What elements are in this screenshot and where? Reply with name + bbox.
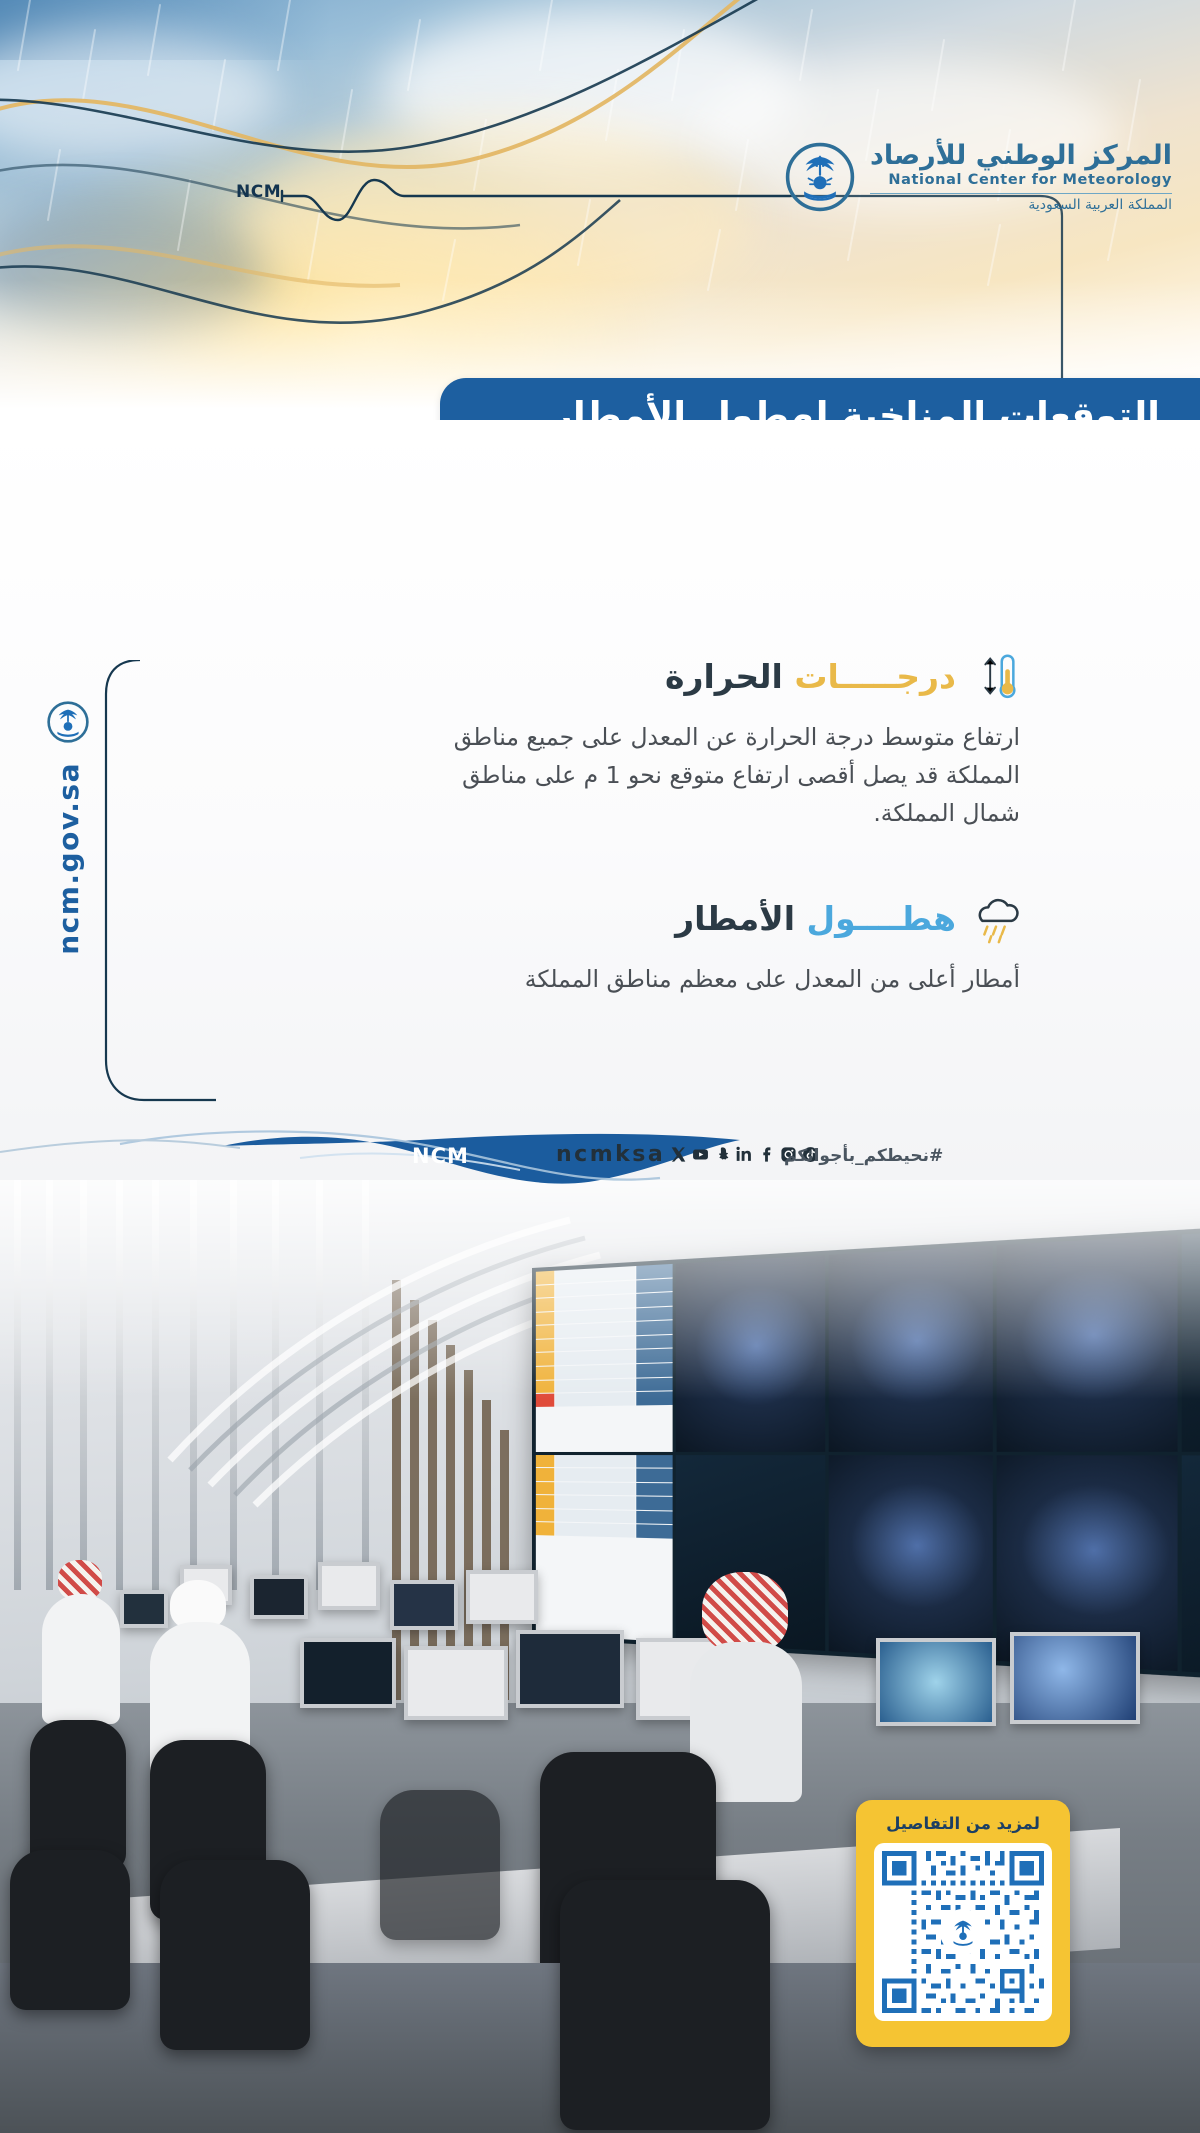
section-body-text: ارتفاع متوسط درجة الحرارة عن المعدل على … — [420, 718, 1020, 832]
left-bracket-line — [100, 660, 220, 1120]
section-title-accent: درجـــــات — [794, 657, 956, 696]
qr-label: لمزيد من التفاصيل — [856, 1812, 1070, 1843]
section-title: هطــــول الأمطار — [675, 899, 956, 938]
monitor — [1010, 1632, 1140, 1724]
section-title-rest: الحرارة — [665, 657, 783, 696]
ncm-wave-mark-label: NCM — [236, 182, 281, 202]
section-temperature: درجـــــات الحرارة ارتفاع متوسط درجة الح… — [420, 648, 1020, 832]
campaign-hashtag: #نحيطكم_بأجوائكم — [784, 1146, 943, 1166]
qr-code-box[interactable] — [874, 1843, 1052, 2021]
monitor — [250, 1575, 308, 1619]
thermometer-up-down-icon — [970, 648, 1020, 704]
qr-code-panel[interactable]: لمزيد من التفاصيل — [856, 1800, 1070, 2047]
ncm-logo: المركز الوطني للأرصاد National Center fo… — [784, 140, 1172, 214]
section-body-text: أمطار أعلى من المعدل على معظم مناطق المم… — [420, 960, 1020, 998]
facebook-icon[interactable] — [758, 1146, 775, 1163]
video-wall-data-table — [536, 1455, 673, 1643]
poster-canvas: NCM المركز الوطني للأرصاد National Cente… — [0, 0, 1200, 2133]
office-chair — [160, 1860, 310, 2050]
footer-ncm-mark: NCM — [412, 1144, 469, 1168]
office-chair — [30, 1720, 126, 1870]
video-wall-tile — [1182, 1455, 1200, 1683]
saudi-palm-swords-emblem-icon — [944, 1913, 982, 1951]
section-title-accent: هطــــول — [807, 899, 956, 938]
website-sidebar[interactable]: ncm.gov.sa — [46, 700, 90, 955]
monitor — [318, 1562, 380, 1610]
snapchat-icon[interactable] — [714, 1146, 731, 1163]
monitor — [390, 1580, 458, 1630]
cloud-rain-icon — [970, 890, 1020, 946]
saudi-palm-swords-emblem-icon — [784, 141, 856, 213]
section-header: درجـــــات الحرارة — [420, 648, 1020, 704]
video-wall-tile — [829, 1455, 993, 1661]
website-url[interactable]: ncm.gov.sa — [52, 762, 85, 955]
monitor — [404, 1646, 508, 1720]
monitor — [516, 1630, 624, 1708]
social-handles[interactable]: ncmksa — [556, 1142, 819, 1167]
qr-center-logo — [940, 1909, 986, 1955]
section-rainfall: هطــــول الأمطار أمطار أعلى من المعدل عل… — [420, 890, 1020, 998]
office-chair — [10, 1850, 130, 2010]
logo-english-name: National Center for Meteorology — [870, 171, 1172, 194]
monitor — [300, 1638, 396, 1708]
monitor — [466, 1570, 538, 1624]
monitor — [120, 1590, 168, 1628]
office-chair — [380, 1790, 500, 1940]
monitor — [876, 1638, 996, 1726]
social-handle-text: ncmksa — [556, 1142, 665, 1167]
ncm-logo-text: المركز الوطني للأرصاد National Center fo… — [870, 140, 1172, 214]
section-title-rest: الأمطار — [675, 899, 795, 938]
linkedin-icon[interactable] — [736, 1146, 753, 1163]
logo-country-name: المملكة العربية السعودية — [870, 197, 1172, 215]
office-chair — [560, 1880, 770, 2130]
x-twitter-icon[interactable] — [670, 1146, 687, 1163]
section-title: درجـــــات الحرارة — [665, 657, 956, 696]
logo-arabic-name: المركز الوطني للأرصاد — [870, 140, 1172, 171]
section-header: هطــــول الأمطار — [420, 890, 1020, 946]
youtube-icon[interactable] — [692, 1146, 709, 1163]
saudi-palm-swords-emblem-icon — [46, 700, 90, 744]
